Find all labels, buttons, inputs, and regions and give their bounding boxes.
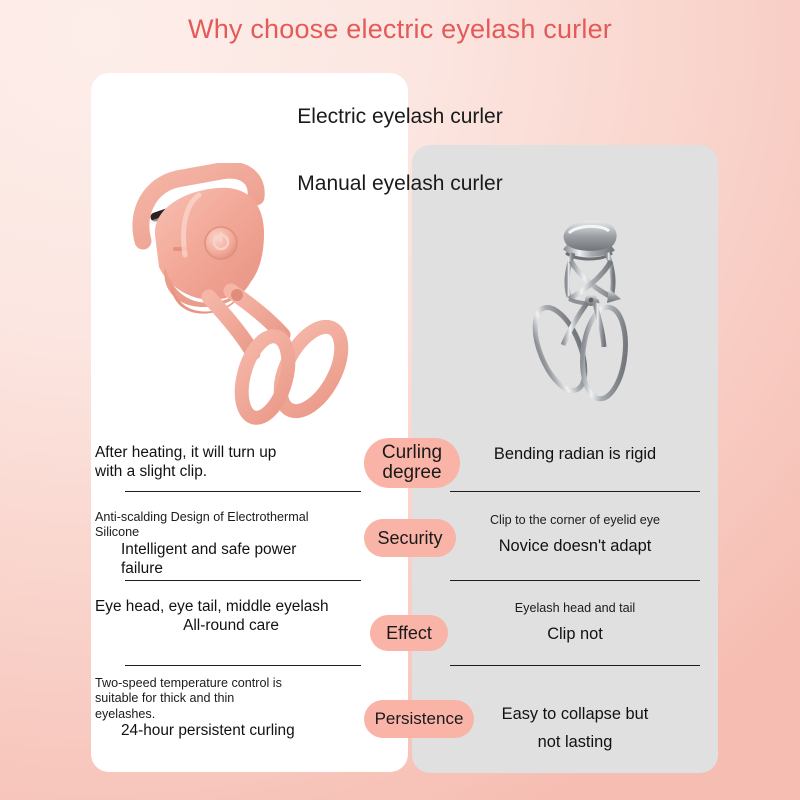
row-security-electric-text: Anti-scalding Design of ElectrothermalSi…	[95, 510, 367, 578]
row-curling-degree-electric-text: After heating, it will turn upwith a sli…	[95, 444, 367, 482]
text-line: Clip not	[440, 624, 710, 644]
row-divider-right	[450, 580, 700, 581]
text-line: Silicone	[95, 525, 367, 540]
text-line: suitable for thick and thin	[95, 691, 367, 706]
text-line: Novice doesn't adapt	[440, 536, 710, 556]
row-divider-right	[450, 665, 700, 666]
text-line: Intelligent and safe power	[95, 541, 367, 560]
text-line: Two-speed temperature control is	[95, 676, 367, 691]
text-line: Eyelash head and tail	[440, 601, 710, 616]
electric-eyelash-curler-photo	[125, 163, 370, 425]
comparison-badge-effect: Effect	[370, 615, 448, 651]
poster-canvas: Why choose electric eyelash curler Elect…	[0, 0, 800, 800]
text-line: Anti-scalding Design of Electrothermal	[95, 510, 367, 525]
text-line: failure	[95, 560, 367, 579]
row-divider-right	[450, 491, 700, 492]
manual-eyelash-curler-photo	[503, 203, 678, 408]
row-divider-left	[125, 580, 361, 581]
row-persistence-electric-text: Two-speed temperature control issuitable…	[95, 676, 367, 741]
text-line: Eye head, eye tail, middle eyelash	[95, 598, 367, 617]
row-curling-degree-manual-text: Bending radian is rigid	[440, 444, 710, 464]
comparison-badge-security: Security	[364, 519, 456, 557]
row-divider-left	[125, 665, 361, 666]
text-line: not lasting	[440, 732, 710, 752]
text-line: Bending radian is rigid	[440, 444, 710, 464]
page-title: Why choose electric eyelash curler	[0, 14, 800, 45]
text-line: 24-hour persistent curling	[95, 722, 367, 741]
row-divider-left	[125, 491, 361, 492]
text-line: Clip to the corner of eyelid eye	[440, 513, 710, 528]
comparison-badge-persistence: Persistence	[364, 700, 474, 738]
text-line: All-round care	[95, 617, 367, 636]
row-security-manual-text: Clip to the corner of eyelid eyeNovice d…	[440, 513, 710, 556]
text-line: eyelashes.	[95, 707, 367, 722]
text-line: After heating, it will turn up	[95, 444, 367, 463]
text-line: Easy to collapse but	[440, 704, 710, 724]
row-effect-manual-text: Eyelash head and tailClip not	[440, 601, 710, 644]
text-line: with a slight clip.	[95, 463, 367, 482]
comparison-badge-curling-degree: Curling degree	[364, 438, 460, 488]
manual-panel-heading: Manual eyelash curler	[0, 172, 800, 196]
row-effect-electric-text: Eye head, eye tail, middle eyelashAll-ro…	[95, 598, 367, 636]
row-persistence-manual-text: Easy to collapse butnot lasting	[440, 704, 710, 752]
electric-panel-heading: Electric eyelash curler	[0, 105, 800, 129]
